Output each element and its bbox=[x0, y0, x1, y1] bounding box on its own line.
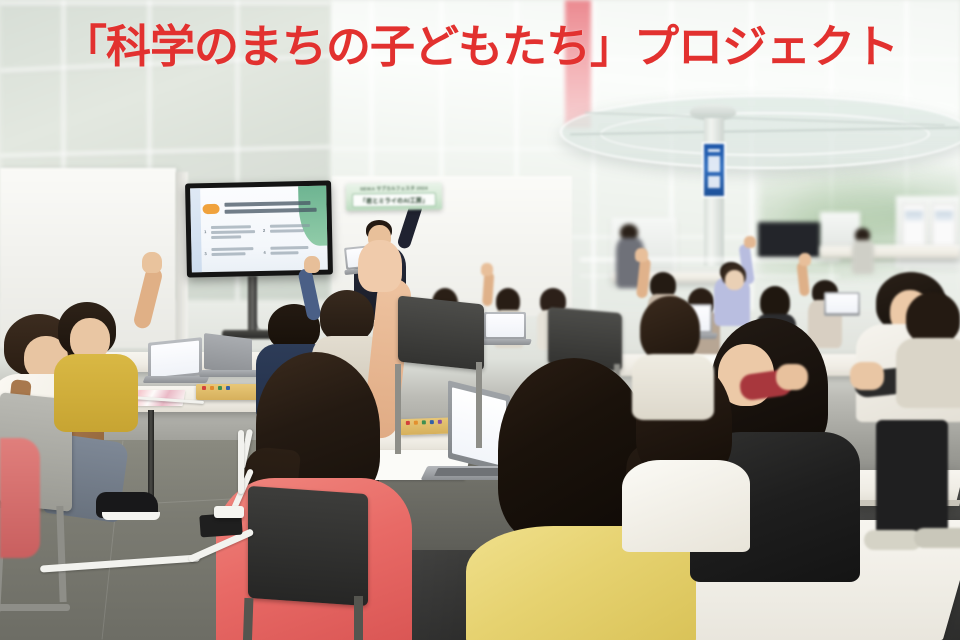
poster bbox=[902, 204, 926, 248]
shoe-sole bbox=[102, 512, 160, 520]
hanging-banner-red bbox=[565, 0, 591, 128]
display-stand bbox=[248, 276, 257, 334]
child-yellow-hand bbox=[142, 252, 162, 273]
slide-badge bbox=[202, 204, 219, 214]
legs bbox=[876, 420, 948, 536]
event-banner-title: 「君とミライのAI工房」 bbox=[352, 192, 436, 207]
poster bbox=[932, 204, 956, 248]
event-banner: SEIKA サブカルフェスタ 2024 「君とミライのAI工房」 bbox=[346, 182, 442, 210]
wayfinding-sign bbox=[702, 142, 726, 198]
shoe bbox=[914, 528, 960, 548]
person-edge-left bbox=[0, 438, 40, 558]
child-hand bbox=[776, 364, 808, 390]
background-monitor bbox=[758, 222, 820, 258]
cable-drop bbox=[238, 430, 244, 494]
background-table bbox=[820, 246, 960, 258]
laptop-keyboard bbox=[434, 468, 508, 476]
power-strip bbox=[214, 506, 244, 518]
child-pink-hand bbox=[358, 240, 402, 292]
photo-canvas: 1 2 3 4 SEIKA サブカルフェスタ 2024 「君とミライのAI工房」 bbox=[0, 0, 960, 640]
event-banner-subtitle: SEIKA サブカルフェスタ 2024 bbox=[346, 185, 442, 192]
hand bbox=[850, 362, 884, 390]
